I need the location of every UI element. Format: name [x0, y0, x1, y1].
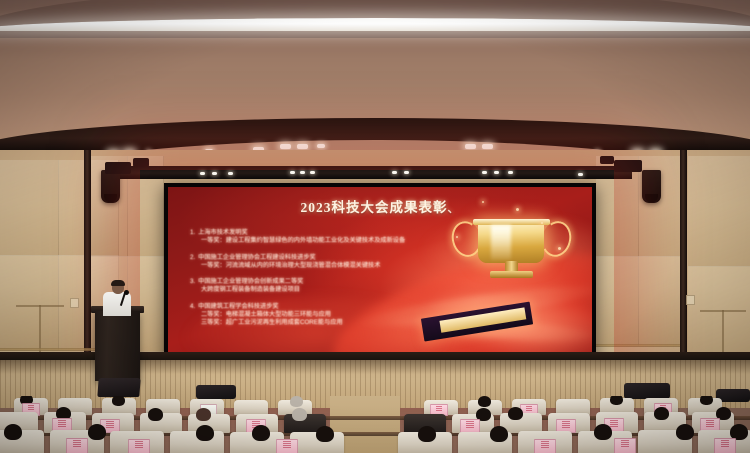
- trophy-graphic: [448, 205, 575, 282]
- audience-head: [196, 425, 214, 441]
- floor-monitor-speaker: [97, 378, 140, 397]
- award-title: 中国建筑工程学会科技进步奖: [198, 303, 278, 310]
- presenter-hair: [111, 280, 125, 286]
- truss-light: [290, 171, 295, 174]
- audience-head: [112, 396, 125, 406]
- award-heading: 1.上海市技术发明奖: [190, 229, 440, 237]
- wall-speaker-right: [642, 170, 661, 203]
- audience-head: [478, 396, 491, 407]
- sparkle: [558, 247, 561, 250]
- audience-head: [290, 396, 303, 407]
- audience-head: [148, 408, 163, 421]
- audience-head: [4, 424, 22, 440]
- award-detail: 一等奖：建设工程集约智慧绿色的内外墙功能工业化及关键技术及成新设备: [190, 237, 440, 246]
- audience-head: [508, 407, 523, 420]
- name-placard: [534, 439, 556, 453]
- ceiling-downlight: [297, 144, 308, 149]
- truss-light: [508, 171, 513, 174]
- award-item: 1.上海市技术发明奖 一等奖：建设工程集约智慧绿色的内外墙功能工业化及关键技术及…: [190, 229, 440, 246]
- truss-light: [578, 173, 583, 176]
- stage-light-left: [105, 162, 131, 174]
- award-item: 2.中国施工企业管理协会工程建设科技进步奖 一等奖：河流流域从内的环境治理大型现…: [190, 254, 440, 271]
- truss-light: [310, 171, 315, 174]
- name-placard: [128, 439, 150, 453]
- audience-area: [0, 396, 750, 453]
- trophy-highlight: [491, 225, 511, 260]
- truss-light: [228, 172, 233, 175]
- wall-panel: [638, 256, 681, 347]
- award-number: 4.: [190, 303, 195, 310]
- audience-head: [594, 424, 612, 440]
- audience-head: [196, 408, 211, 421]
- award-title: 中国施工企业管理协会工程建设科技进步奖: [198, 254, 316, 261]
- award-detail: 大跨度钢工程装备制造装备建设项目: [190, 286, 440, 295]
- slide-title: 2023科技大会成果表彰、: [168, 196, 592, 216]
- lighting-truss: [120, 166, 632, 179]
- award-heading: 3.中国施工企业管理协会创新成果二等奖: [190, 278, 440, 286]
- award-detail: 二等奖：电梯混凝土箱体大型功能三环能与应用: [190, 311, 440, 320]
- award-item: 4.中国建筑工程学会科技进步奖 二等奖：电梯混凝土箱体大型功能三环能与应用 三等…: [190, 303, 440, 328]
- name-placard: [614, 438, 636, 453]
- led-screen: 2023科技大会成果表彰、 1.上海市技术发明奖 一等奖：建设工程集约智慧绿色的…: [164, 183, 596, 366]
- seat: [234, 400, 268, 415]
- award-list: 1.上海市技术发明奖 一等奖：建设工程集约智慧绿色的内外墙功能工业化及关键技术及…: [190, 229, 440, 336]
- truss-light: [404, 171, 409, 174]
- truss-light: [392, 171, 397, 174]
- award-heading: 2.中国施工企业管理协会工程建设科技进步奖: [190, 254, 440, 262]
- wall-panel: [0, 160, 59, 256]
- audience-head: [252, 425, 270, 441]
- auditorium-photo: 2023科技大会成果表彰、 1.上海市技术发明奖 一等奖：建设工程集约智慧绿色的…: [0, 0, 750, 453]
- trophy-rim: [473, 219, 549, 225]
- trophy-cup: [478, 221, 544, 263]
- award-detail: 一等奖：河流流域从内的环境治理大型现浇管混合体模混关键技术: [190, 262, 440, 271]
- award-number: 1.: [190, 229, 195, 236]
- slide-title-text: 2023科技大会成果表彰: [301, 200, 448, 215]
- award-item: 3.中国施工企业管理协会创新成果二等奖 大跨度钢工程装备制造装备建设项目: [190, 278, 440, 295]
- stage-light-left: [133, 158, 149, 167]
- audience-head: [88, 424, 106, 440]
- ceiling: [0, 0, 750, 175]
- ceiling-downlight: [465, 144, 476, 149]
- award-detail: 三等奖：超广工业污泥再生利用成套CORE能与应用: [190, 319, 440, 328]
- ceiling-downlight: [482, 144, 493, 149]
- audience-head: [292, 408, 307, 421]
- name-placard: [66, 438, 88, 453]
- wall-panel: [596, 256, 639, 347]
- award-title: 上海市技术发明奖: [198, 229, 248, 236]
- truss-light: [300, 171, 305, 174]
- wall-outlet: [70, 298, 79, 308]
- slide-title-tail: 、: [448, 203, 460, 215]
- microphone-head: [124, 290, 129, 295]
- award-title: 中国施工企业管理协会创新成果二等奖: [198, 278, 303, 285]
- truss-light: [494, 171, 499, 174]
- audience-head: [676, 424, 694, 440]
- award-number: 3.: [190, 278, 195, 285]
- truss-light: [482, 171, 487, 174]
- name-placard: [714, 438, 736, 453]
- truss-light: [200, 172, 205, 175]
- audience-head: [610, 396, 623, 405]
- stage-light-right: [600, 156, 614, 164]
- name-placard: [276, 439, 298, 453]
- ceiling-downlight: [280, 144, 291, 149]
- wall-outlet: [686, 295, 695, 305]
- audience-head: [490, 426, 508, 442]
- award-heading: 4.中国建筑工程学会科技进步奖: [190, 303, 440, 311]
- audience-head: [654, 407, 669, 420]
- audience-head: [316, 426, 334, 442]
- lectern: [95, 311, 140, 381]
- ceiling-downlight: [317, 144, 325, 148]
- audience-head: [418, 426, 436, 442]
- award-number: 2.: [190, 254, 195, 261]
- wall-speaker-left: [101, 170, 120, 203]
- truss-light: [212, 172, 217, 175]
- presenter-body: [103, 292, 131, 316]
- slide-surface: 2023科技大会成果表彰、 1.上海市技术发明奖 一等奖：建设工程集约智慧绿色的…: [168, 187, 592, 362]
- audience-head: [700, 396, 713, 405]
- wall-panel: [688, 156, 750, 267]
- name-placard: [460, 419, 480, 433]
- stage-light-right: [614, 160, 642, 172]
- wall-trim: [596, 344, 682, 347]
- trophy-base: [490, 271, 533, 278]
